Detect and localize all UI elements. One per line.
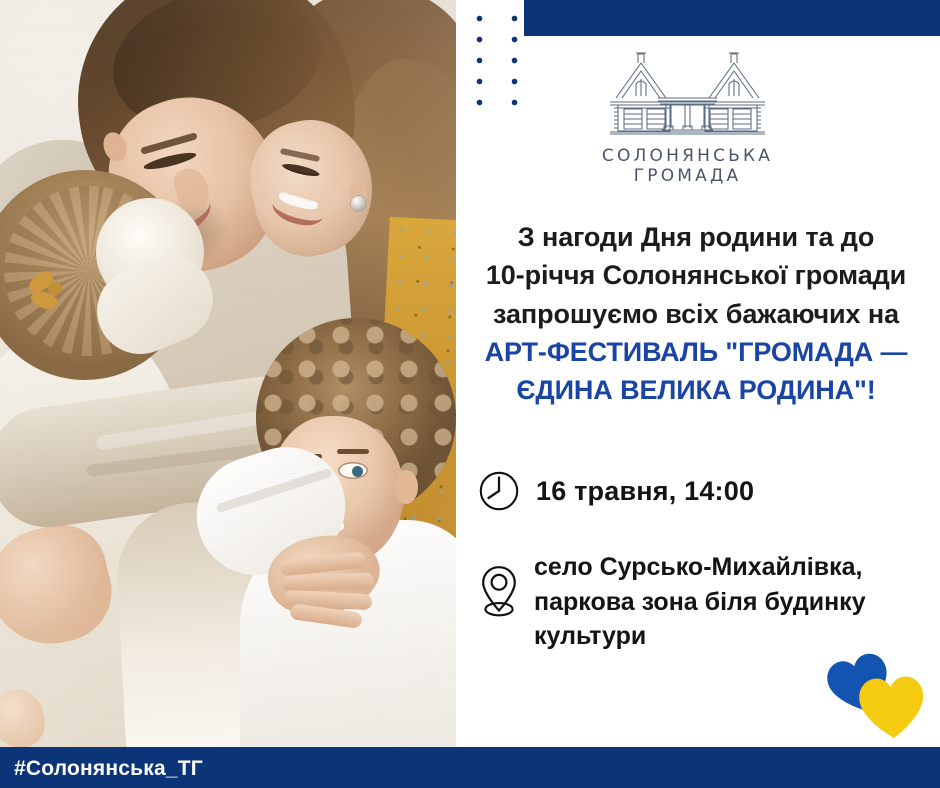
family-photo	[0, 0, 456, 747]
event-place-row: село Сурсько-Михайлівка, паркова зона бі…	[478, 550, 866, 654]
event-time-row: 16 травня, 14:00	[478, 470, 754, 512]
headline-line-5: ЄДИНА ВЕЛИКА РОДИНА"!	[462, 371, 930, 409]
top-navy-bar	[524, 0, 940, 36]
hashtag-label: #Солонянська_ТГ	[14, 757, 203, 781]
map-pin-icon	[478, 564, 520, 620]
poster: СОЛОНЯНСЬКА ГРОМАДА З нагоди Дня родини …	[0, 0, 940, 788]
heart-yellow	[858, 675, 926, 740]
headline: З нагоди Дня родини та до 10-річчя Солон…	[462, 218, 930, 410]
two-hearts-icon	[820, 650, 935, 742]
headline-line-1: З нагоди Дня родини та до	[462, 218, 930, 256]
place-line-3: культури	[534, 622, 646, 650]
event-place-text: село Сурсько-Михайлівка, паркова зона бі…	[534, 550, 866, 654]
place-line-2: паркова зона біля будинку	[534, 588, 866, 616]
two-hearts-decoration	[820, 650, 935, 742]
dot-grid-decoration	[462, 8, 526, 118]
place-line-1: село Сурсько-Михайлівка,	[534, 553, 862, 581]
photo-grain	[0, 0, 456, 747]
headline-line-2: 10-річчя Солонянської громади	[462, 256, 930, 294]
building-facade-icon	[600, 46, 775, 146]
map-pin-icon-wrap	[478, 550, 520, 625]
headline-line-4: АРТ-ФЕСТИВАЛЬ "ГРОМАДА —	[462, 333, 930, 371]
logo-text-line1: СОЛОНЯНСЬКА	[600, 147, 775, 167]
logo-text-line2: ГРОМАДА	[600, 167, 775, 187]
headline-line-3: запрошуємо всіх бажаючих на	[462, 295, 930, 333]
clock-icon	[478, 470, 520, 512]
solonyanska-hromada-logo: СОЛОНЯНСЬКА ГРОМАДА	[600, 46, 775, 188]
event-time-text: 16 травня, 14:00	[536, 476, 754, 507]
